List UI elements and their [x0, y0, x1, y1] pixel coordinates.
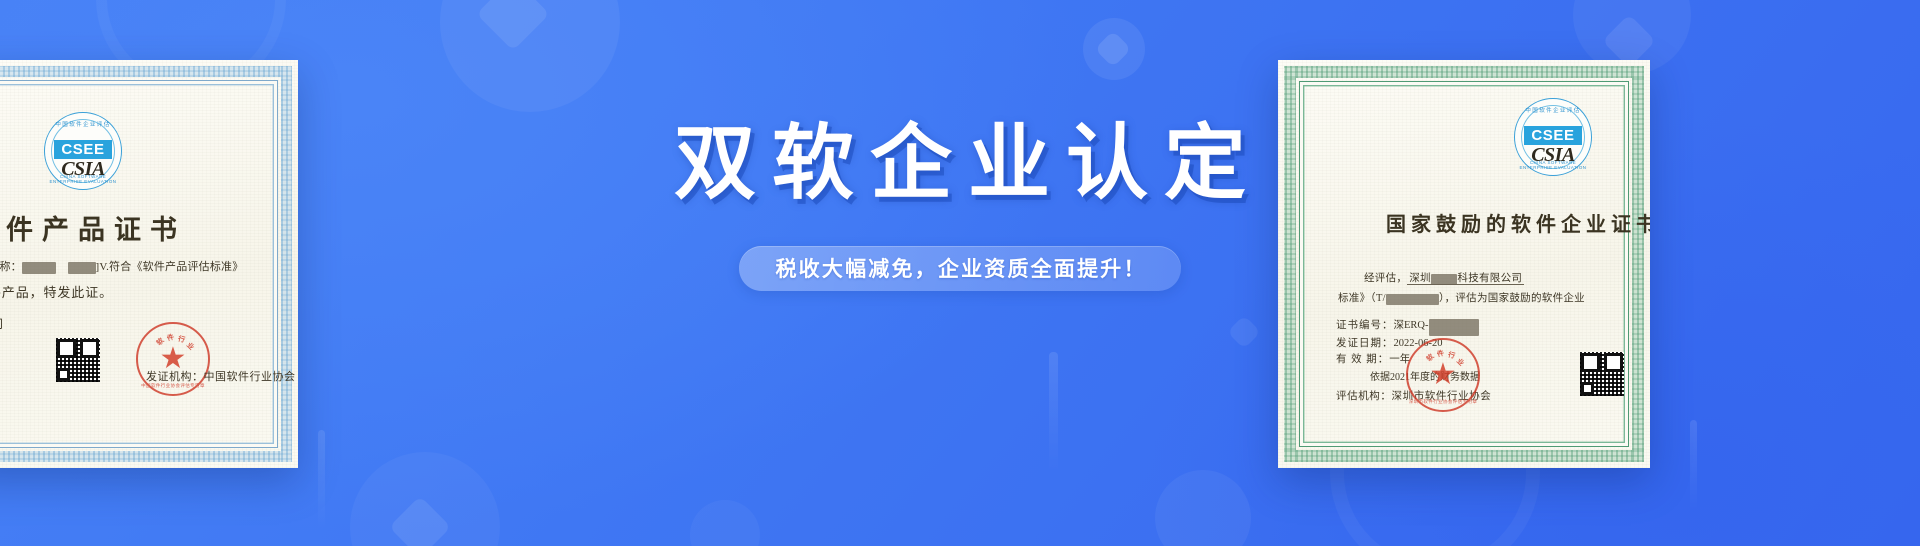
- redacted-text: ■■■■■■■■: [1386, 294, 1439, 305]
- field-key: 有 效 期：: [1336, 354, 1389, 365]
- red-seal-stamp-icon: 软件行业 ★ 深圳市软件行业协会评估专用章: [1406, 338, 1480, 412]
- decorative-diamond-icon: [476, 0, 550, 51]
- decorative-diamond-icon: [1227, 315, 1261, 349]
- field-row: 证书编号：深ERQ-■■■■■■■■: [1336, 318, 1479, 336]
- decorative-circle: [690, 500, 760, 546]
- red-seal-stamp-icon: 软件行业 ★ 中国软件行业协会评估专用章: [136, 322, 210, 396]
- field-key: 证书编号：: [1336, 320, 1394, 331]
- seal-star-icon: ★: [1430, 360, 1457, 390]
- certificate-line-2: 标准》（T/■■■■■■■■），评估为国家鼓励的软件企业: [1338, 290, 1585, 305]
- banner-content: 双软企业认定 税收大幅减免，企业资质全面提升！: [0, 118, 1920, 291]
- logo-top-chinese: 中国软件企业评估: [1515, 106, 1591, 114]
- org-label: 评估机构：: [1336, 391, 1392, 402]
- promo-banner: 中国软件企业评估 CSEE CSIA CHINA SOFTWARE ENTERP…: [0, 0, 1920, 546]
- banner-subtitle-pill: 税收大幅减免，企业资质全面提升！: [739, 246, 1180, 291]
- line2-prefix: 标准》（T/: [1338, 293, 1386, 304]
- field-key: 发证日期：: [1336, 338, 1394, 349]
- banner-title: 双软企业认定: [658, 118, 1262, 210]
- decorative-circle: [440, 0, 620, 112]
- qr-code-icon: [1580, 352, 1624, 396]
- certificate-issuer: 发证机构：中国软件行业协会: [146, 368, 296, 384]
- seal-bottom-text: 深圳市软件行业协会评估专用章: [1408, 399, 1478, 405]
- decorative-bar: [318, 430, 325, 530]
- decorative-diamond-icon: [389, 496, 451, 546]
- field-value: 深ERQ-: [1394, 320, 1429, 331]
- line2-suffix: ），评估为国家鼓励的软件企业: [1439, 293, 1585, 304]
- decorative-circle: [1155, 470, 1251, 546]
- qr-code-icon: [56, 338, 100, 382]
- redacted-text: ■■■■■■■■: [1429, 319, 1480, 336]
- decorative-bar: [1690, 420, 1697, 510]
- decorative-bar: [1049, 352, 1058, 472]
- decorative-circle: [350, 452, 500, 546]
- decorative-diamond-icon: [1095, 31, 1132, 68]
- certificate-line-3: 限公司: [0, 315, 4, 332]
- decorative-circle: [1083, 18, 1145, 80]
